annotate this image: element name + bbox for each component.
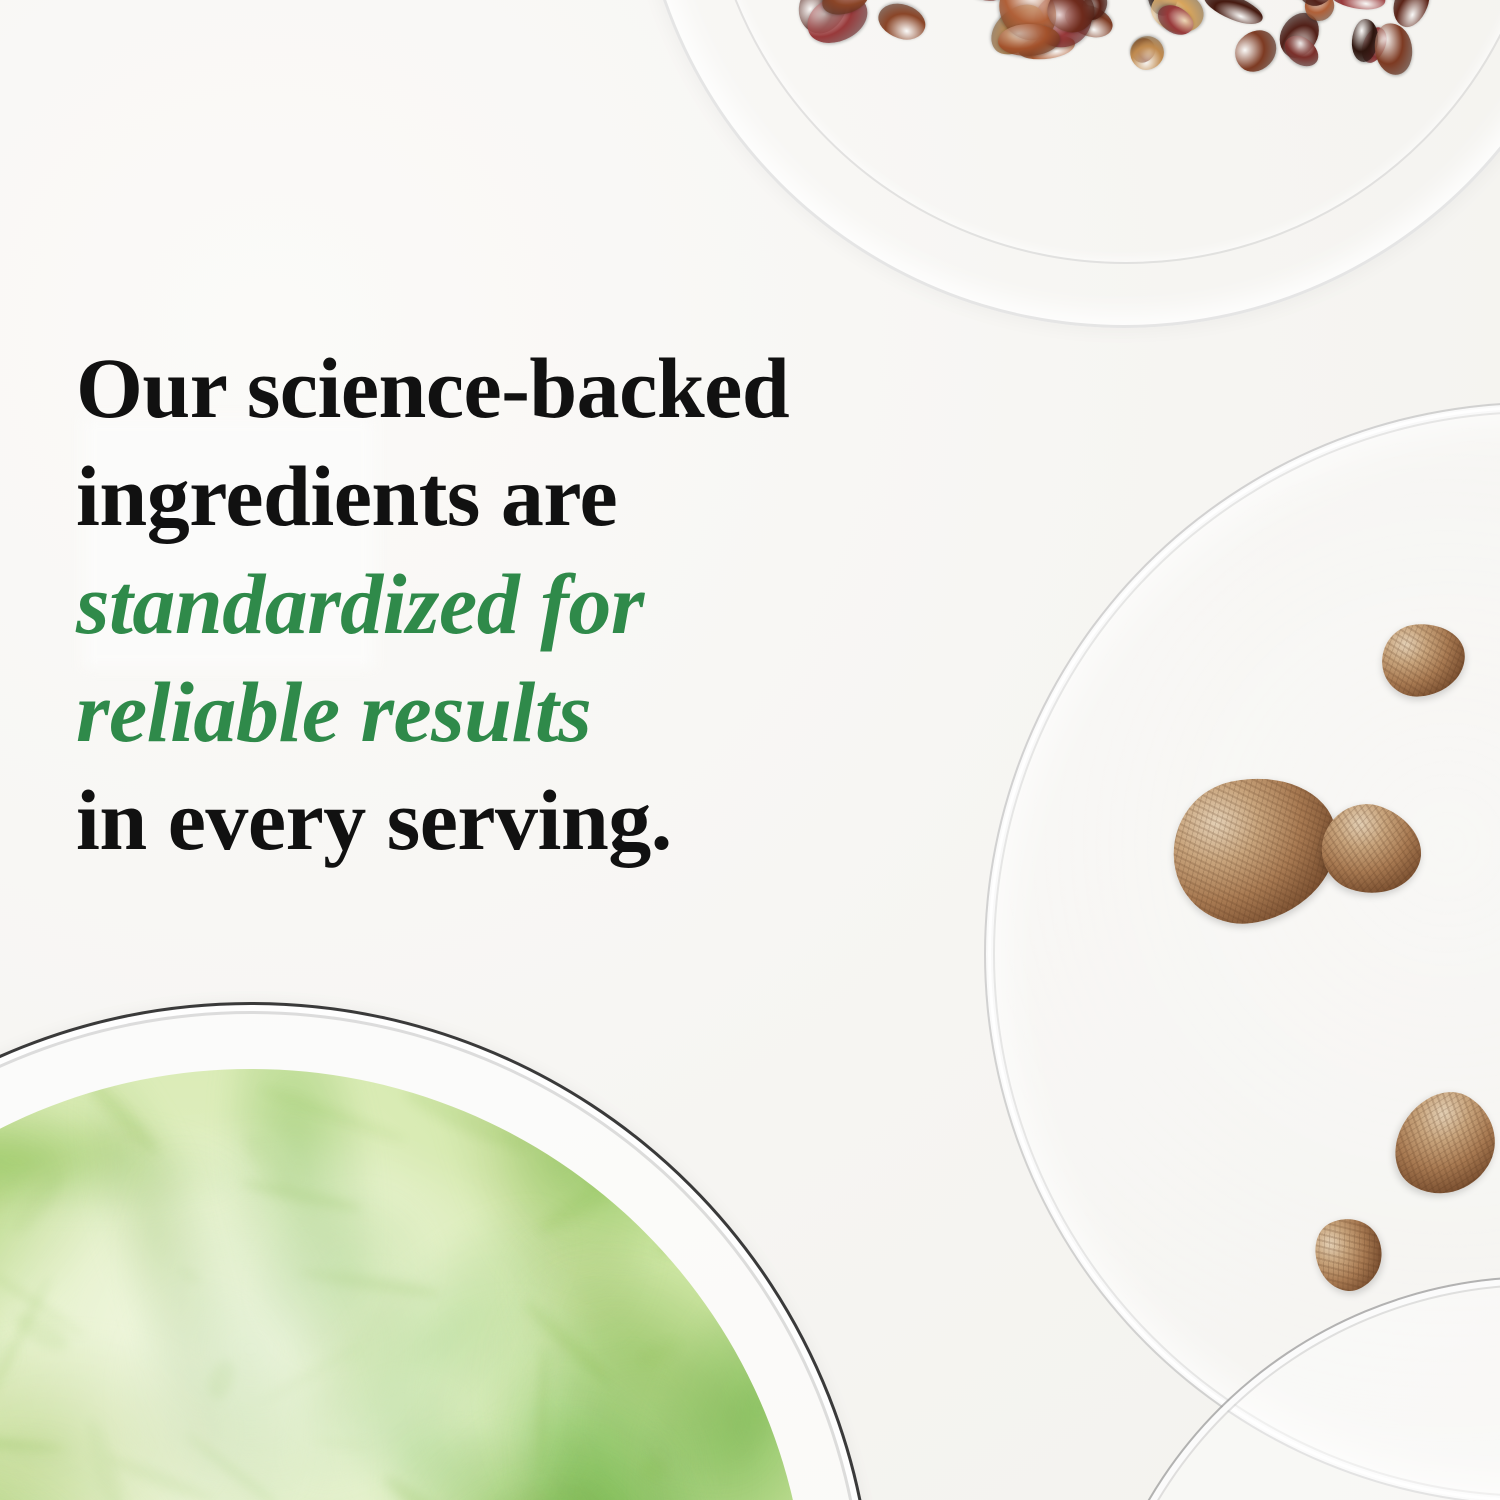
seed-fragment bbox=[962, 0, 1014, 2]
seed-fragment bbox=[1044, 0, 1099, 37]
green-gel bbox=[0, 1069, 807, 1500]
seed-fragment bbox=[1152, 0, 1198, 41]
seed-fragment bbox=[1060, 0, 1116, 44]
seed-fragment bbox=[1017, 33, 1077, 64]
seed-fragment bbox=[1123, 29, 1170, 76]
seed-fragment bbox=[1147, 0, 1214, 1]
root-chunk bbox=[1309, 791, 1432, 908]
seed-fragment bbox=[1201, 0, 1267, 30]
root-chunk-texture bbox=[1309, 791, 1432, 908]
seed-fragment bbox=[791, 0, 857, 41]
seed-fragment bbox=[988, 0, 1068, 52]
seed-fragment bbox=[1027, 0, 1100, 55]
seed-fragment bbox=[1079, 0, 1113, 24]
root-chunk bbox=[1378, 1075, 1500, 1213]
root-chunk-texture bbox=[1304, 1208, 1393, 1300]
seed-fragment bbox=[982, 0, 1054, 64]
headline: Our science-backed ingredients are stand… bbox=[76, 334, 906, 874]
petri-dish-gel bbox=[0, 1002, 874, 1500]
product-lifestyle-image: Our science-backed ingredients are stand… bbox=[0, 0, 1500, 1500]
seed-fragment bbox=[1353, 0, 1416, 7]
seed-fragment bbox=[1371, 20, 1417, 77]
seed-fragment bbox=[997, 23, 1061, 58]
seed-fragment bbox=[1300, 0, 1338, 26]
headline-line-5: in every serving. bbox=[76, 766, 906, 874]
seed-fragment bbox=[1350, 18, 1379, 63]
seed-fragment bbox=[1270, 0, 1336, 7]
headline-line-4: reliable results bbox=[76, 658, 906, 766]
seed-fragment bbox=[1279, 29, 1324, 72]
headline-line-2: ingredients are bbox=[76, 442, 906, 550]
root-chunk-texture bbox=[1378, 1075, 1500, 1213]
seed-fragment bbox=[1357, 24, 1391, 66]
root-chunk bbox=[1304, 1208, 1393, 1300]
seed-fragment bbox=[818, 0, 874, 20]
petri-dish-seeds bbox=[636, 0, 1500, 328]
seed-fragment bbox=[1145, 0, 1181, 17]
seed-fragment bbox=[1227, 22, 1285, 80]
seed-fragment bbox=[1387, 0, 1435, 32]
seed-fragment bbox=[854, 0, 899, 3]
seed-fragment bbox=[1329, 0, 1387, 12]
seed-fragment bbox=[1127, 33, 1160, 66]
seed-fragment bbox=[1272, 6, 1326, 64]
root-chunk bbox=[1379, 621, 1467, 699]
seed-bed bbox=[743, 0, 1500, 221]
seed-fragment bbox=[1290, 0, 1341, 14]
seed-fragment bbox=[800, 0, 875, 52]
seed-fragment bbox=[874, 0, 931, 46]
root-chunk-texture bbox=[1379, 621, 1467, 699]
headline-line-1: Our science-backed bbox=[76, 334, 906, 442]
headline-line-3: standardized for bbox=[76, 550, 906, 658]
seed-fragment bbox=[1146, 0, 1208, 38]
